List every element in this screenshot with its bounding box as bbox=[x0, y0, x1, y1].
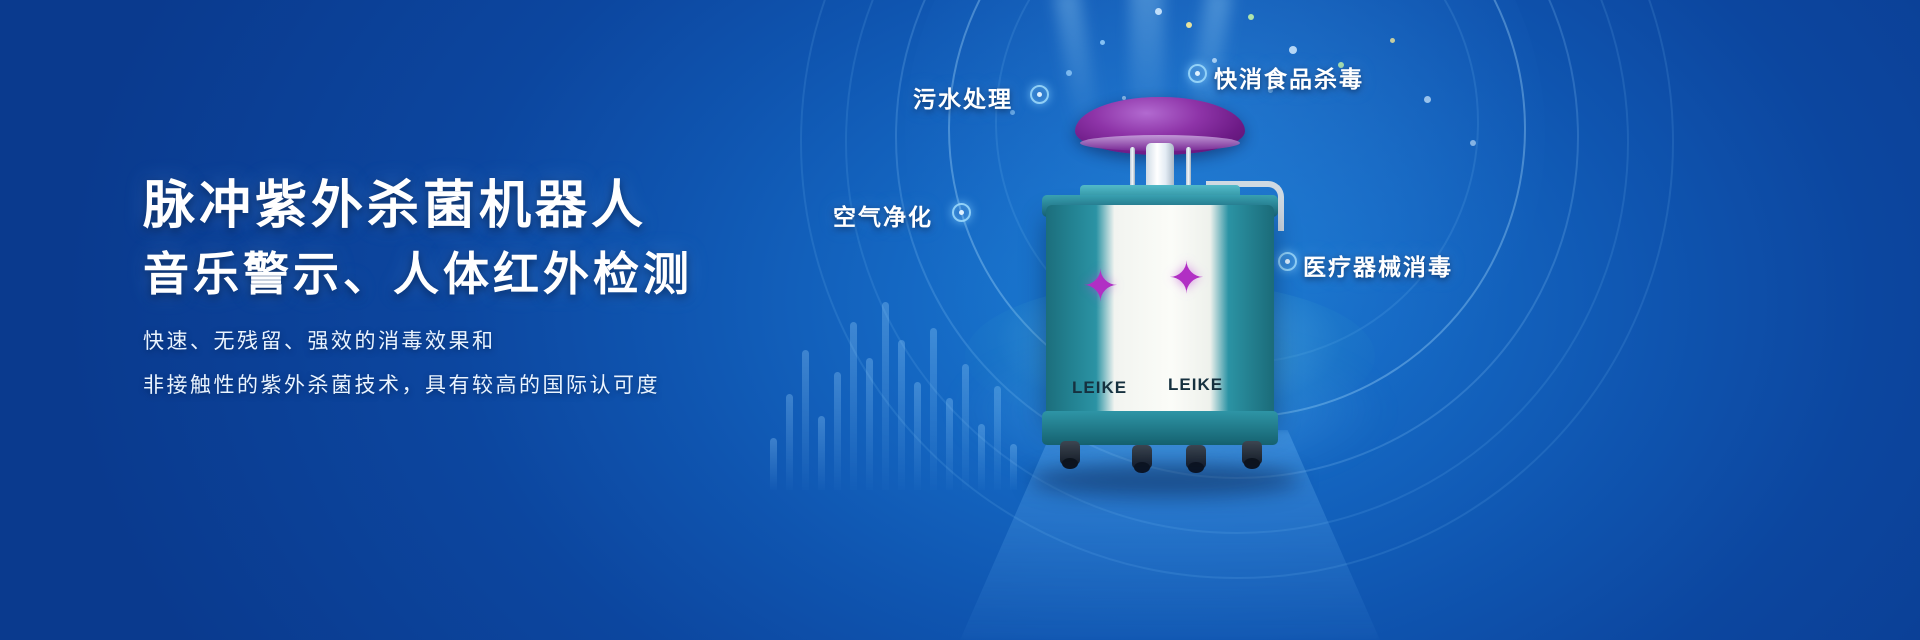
brand-label-left: LEIKE bbox=[1072, 378, 1127, 398]
particle bbox=[1186, 22, 1192, 28]
particle bbox=[1066, 70, 1072, 76]
base-band bbox=[1042, 411, 1278, 445]
marker-air-purification bbox=[952, 203, 971, 222]
particle bbox=[1390, 38, 1395, 43]
caster-wheel bbox=[1060, 441, 1080, 465]
particle bbox=[1470, 140, 1476, 146]
subtext-line-2: 非接触性的紫外杀菌技术，具有较高的国际认可度 bbox=[143, 369, 660, 399]
particle bbox=[1155, 8, 1162, 15]
callout-waste-water: 污水处理 bbox=[913, 80, 1013, 114]
callout-air-purification: 空气净化 bbox=[833, 198, 933, 232]
hero-banner: 污水处理 快消食品杀毒 空气净化 医疗器械消毒 脉冲紫外杀菌机器人 音乐警示、人… bbox=[0, 0, 1920, 640]
caster-wheel bbox=[1242, 441, 1262, 465]
product-image-uv-robot: ✦ ✦ LEIKE LEIKE bbox=[1020, 85, 1320, 515]
product-shadow bbox=[1030, 463, 1300, 497]
callout-medical-disinfection: 医疗器械消毒 bbox=[1303, 248, 1453, 282]
headline-primary: 脉冲紫外杀菌机器人 bbox=[143, 163, 647, 238]
particle bbox=[1248, 14, 1254, 20]
particle bbox=[1100, 40, 1105, 45]
marker-food-sterilization bbox=[1188, 64, 1207, 83]
subtext-line-1: 快速、无残留、强效的消毒效果和 bbox=[143, 325, 496, 355]
sparkle-star-left: ✦ bbox=[1082, 265, 1119, 309]
headline-secondary: 音乐警示、人体红外检测 bbox=[143, 238, 693, 304]
particle bbox=[1289, 46, 1297, 54]
brand-label-right: LEIKE bbox=[1168, 375, 1223, 395]
sparkle-star-right: ✦ bbox=[1168, 257, 1205, 301]
particle bbox=[1424, 96, 1431, 103]
